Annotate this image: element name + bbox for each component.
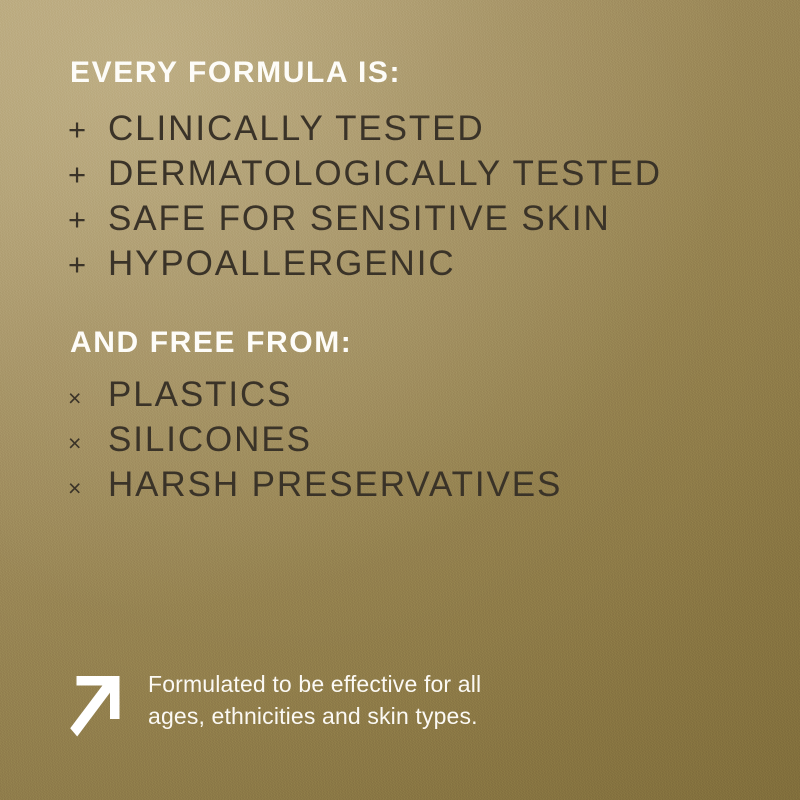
plus-marker-icon: + — [68, 242, 108, 287]
list-item: × PLASTICS — [68, 372, 562, 417]
plus-marker-icon: + — [68, 152, 108, 197]
list-item-label: SILICONES — [108, 417, 312, 462]
plus-marker-icon: + — [68, 107, 108, 152]
heading-and-free-from: AND FREE FROM: — [70, 328, 352, 358]
list-item: × SILICONES — [68, 417, 562, 462]
cross-marker-icon: × — [68, 376, 108, 421]
list-item: + DERMATOLOGICALLY TESTED — [68, 151, 662, 196]
heading-every-formula-is: EVERY FORMULA IS: — [70, 58, 401, 88]
list-free-from: × PLASTICS × SILICONES × HARSH PRESERVAT… — [68, 372, 562, 507]
list-formula-claims: + CLINICALLY TESTED + DERMATOLOGICALLY T… — [68, 106, 662, 286]
footer-line-1: Formulated to be effective for all — [148, 668, 481, 700]
list-item: + HYPOALLERGENIC — [68, 241, 662, 286]
cross-marker-icon: × — [68, 421, 108, 466]
footer-line-2: ages, ethnicities and skin types. — [148, 700, 481, 732]
list-item-label: PLASTICS — [108, 372, 292, 417]
plus-marker-icon: + — [68, 197, 108, 242]
cross-marker-icon: × — [68, 466, 108, 511]
promo-card: EVERY FORMULA IS: + CLINICALLY TESTED + … — [0, 0, 800, 800]
list-item-label: DERMATOLOGICALLY TESTED — [108, 151, 662, 196]
list-item-label: HYPOALLERGENIC — [108, 241, 456, 286]
list-item: + SAFE FOR SENSITIVE SKIN — [68, 196, 662, 241]
list-item-label: CLINICALLY TESTED — [108, 106, 485, 151]
footer-callout: Formulated to be effective for all ages,… — [70, 668, 481, 740]
card-content: EVERY FORMULA IS: + CLINICALLY TESTED + … — [0, 0, 800, 800]
list-item: × HARSH PRESERVATIVES — [68, 462, 562, 507]
list-item-label: SAFE FOR SENSITIVE SKIN — [108, 196, 611, 241]
footer-text: Formulated to be effective for all ages,… — [148, 668, 481, 732]
list-item: + CLINICALLY TESTED — [68, 106, 662, 151]
list-item-label: HARSH PRESERVATIVES — [108, 462, 562, 507]
arrow-up-right-icon — [70, 674, 126, 740]
